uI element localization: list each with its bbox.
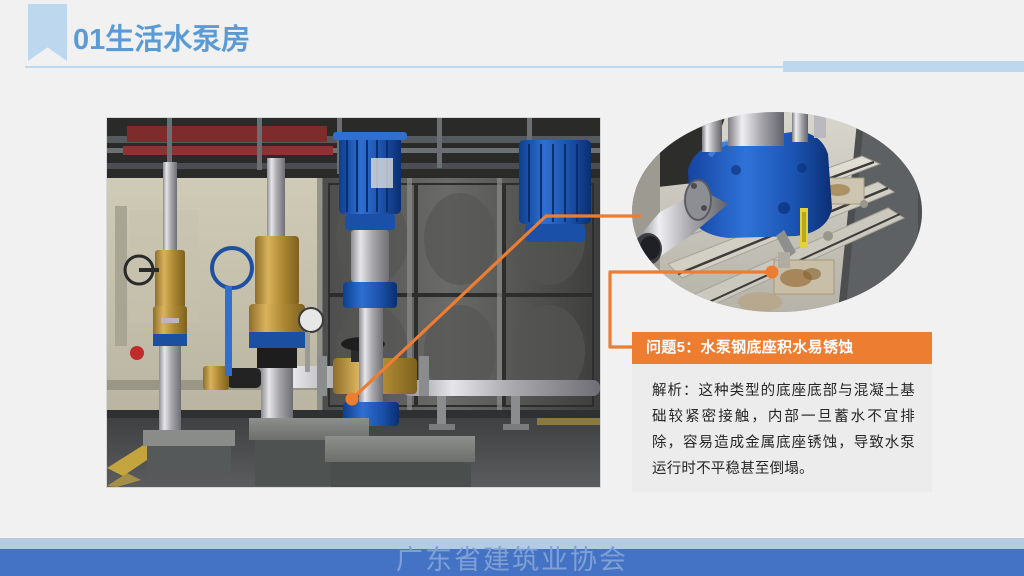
slide-root: 01生活水泵房 [0, 0, 1024, 576]
inset-photo-ellipse [632, 112, 922, 312]
main-photo [107, 118, 600, 487]
header-divider-accent [783, 61, 1024, 72]
page-title: 01生活水泵房 [73, 22, 250, 58]
header-divider [25, 66, 785, 68]
callout-body-text: 解析：这种类型的底座底部与混凝土基础较紧密接触，内部一旦蓄水不宜排除，容易造成金… [632, 364, 932, 492]
ribbon-bookmark-icon [28, 4, 67, 61]
callout-title: 问题5：水泵钢底座积水易锈蚀 [632, 332, 932, 364]
footer-organization-name: 广东省建筑业协会 [0, 545, 1024, 576]
